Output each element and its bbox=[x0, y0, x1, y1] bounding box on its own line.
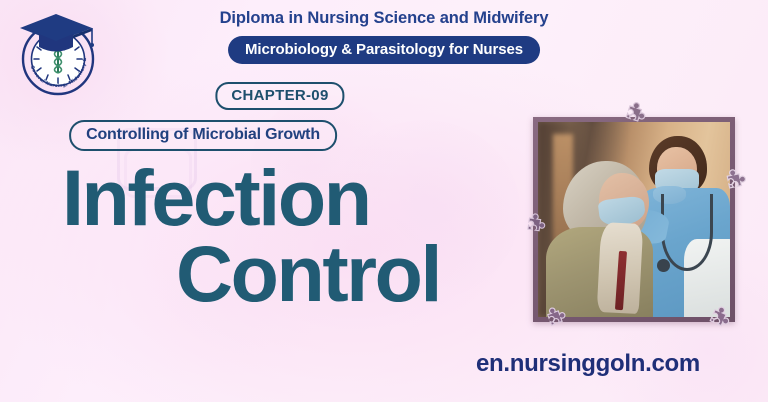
page-title-line-2: Control bbox=[62, 236, 532, 312]
chapter-badge: CHAPTER-09 bbox=[215, 82, 344, 110]
slide-canvas: General Nursing, Midwifery & Patient Car… bbox=[0, 0, 768, 402]
photo-image bbox=[538, 122, 730, 317]
page-title: Infection Control bbox=[62, 160, 532, 312]
photo-frame bbox=[533, 117, 735, 322]
topic-badge: Controlling of Microbial Growth bbox=[69, 120, 337, 151]
subject-pill: Microbiology & Parasitology for Nurses bbox=[228, 36, 540, 64]
course-title: Diploma in Nursing Science and Midwifery bbox=[0, 9, 768, 28]
website-url[interactable]: en.nursinggoln.com bbox=[476, 350, 700, 378]
nurse-and-elderly-patient-photo bbox=[533, 117, 735, 322]
